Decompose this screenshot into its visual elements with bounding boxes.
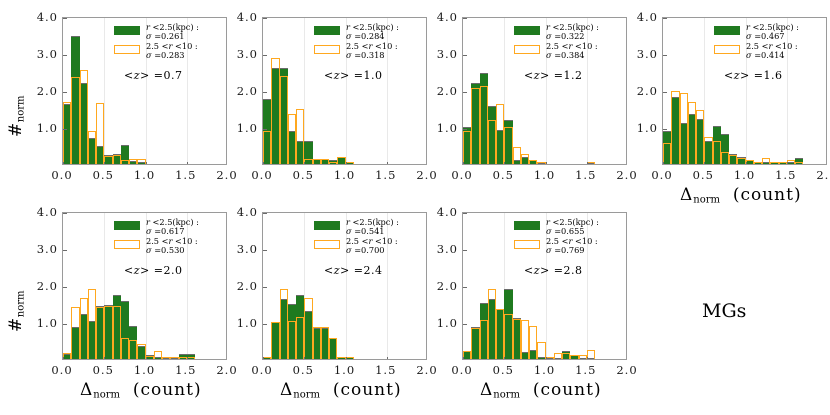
y-tick	[63, 324, 67, 325]
bar-orange-outline	[137, 159, 145, 164]
legend-swatch-orange-icon	[314, 45, 340, 54]
bar-orange-outline	[713, 141, 721, 164]
bar-orange-outline	[263, 357, 271, 359]
y-tick-label: 4.0	[26, 205, 58, 219]
bar-orange-outline	[671, 91, 679, 164]
x-tick-label: 1.5	[568, 363, 604, 377]
y-tick	[663, 55, 667, 56]
y-tick-label: 3.0	[26, 242, 58, 256]
bar-orange-outline	[463, 351, 471, 359]
bar-orange-outline	[513, 147, 521, 164]
y-tick	[263, 92, 267, 93]
bar-orange-outline	[80, 70, 88, 164]
y-tick-label: 2.0	[226, 279, 258, 293]
redshift-label-6: <z> =2.4	[324, 264, 382, 277]
x-tick-label: 1.0	[327, 168, 363, 182]
legend-swatch-orange-icon	[114, 45, 140, 54]
gridline-vertical	[104, 18, 105, 165]
bar-orange-outline	[271, 58, 279, 164]
redshift-label-4: <z> =1.6	[724, 69, 782, 82]
x-tick-label: 0.0	[244, 168, 280, 182]
bar-orange-outline	[71, 77, 79, 164]
corner-label-mgs: MGs	[702, 300, 746, 322]
x-tick-label: 2.0	[809, 168, 830, 182]
bar-orange-outline	[129, 340, 137, 359]
legend-swatch-green-icon	[114, 26, 140, 35]
x-tick	[104, 162, 105, 165]
x-tick-label: 0.0	[644, 168, 680, 182]
y-tick	[63, 287, 67, 288]
y-tick-label: 3.0	[26, 47, 58, 61]
x-tick-label: 1.0	[727, 168, 763, 182]
bar-orange-outline	[263, 131, 271, 164]
x-tick-label: 1.5	[168, 168, 204, 182]
bar-orange-outline	[795, 162, 803, 164]
y-tick-label: 3.0	[226, 242, 258, 256]
y-tick	[463, 324, 467, 325]
redshift-label-7: <z> =2.8	[524, 264, 582, 277]
x-tick	[504, 357, 505, 360]
x-tick	[346, 357, 347, 360]
x-axis-title-panel-7: Δnorm (count)	[480, 380, 602, 401]
x-tick	[463, 357, 464, 360]
y-tick	[663, 18, 667, 19]
y-tick	[263, 18, 267, 19]
x-tick	[304, 357, 305, 360]
bar-orange-outline	[121, 160, 129, 164]
x-tick	[146, 357, 147, 360]
legend-sigma-orange: σ =0.530	[146, 246, 185, 256]
y-tick	[63, 213, 67, 214]
bar-orange-outline	[113, 155, 121, 164]
y-tick	[263, 129, 267, 130]
x-tick-label: 1.5	[168, 363, 204, 377]
bar-orange-outline	[304, 159, 312, 164]
bar-orange-outline	[271, 322, 279, 359]
y-tick	[463, 250, 467, 251]
x-tick	[63, 162, 64, 165]
y-tick	[63, 18, 67, 19]
bar-orange-outline	[529, 326, 537, 359]
x-tick-label: 1.0	[527, 168, 563, 182]
bar-orange-outline	[296, 317, 304, 359]
bar-orange-outline	[304, 298, 312, 359]
y-tick	[63, 55, 67, 56]
y-tick	[263, 287, 267, 288]
bar-orange-outline	[154, 351, 162, 359]
bar-orange-outline	[537, 162, 545, 164]
plot-area-3	[462, 17, 627, 165]
legend-sigma-orange: σ =0.384	[546, 51, 585, 61]
bar-orange-outline	[96, 307, 104, 359]
y-tick-label: 4.0	[26, 10, 58, 24]
plot-area-7	[462, 212, 627, 360]
legend-sigma-orange: σ =0.283	[146, 51, 185, 61]
x-tick-label: 0.5	[485, 363, 521, 377]
bar-orange-outline	[187, 357, 195, 359]
y-tick-label: 2.0	[26, 84, 58, 98]
bar-orange-outline	[521, 154, 529, 164]
y-tick-label: 1.0	[26, 316, 58, 330]
x-tick	[263, 162, 264, 165]
legend-sigma-orange: σ =0.700	[346, 246, 385, 256]
bar-orange-outline	[463, 131, 471, 164]
bar-orange-outline	[754, 162, 762, 164]
y-tick	[263, 55, 267, 56]
bar-orange-outline	[787, 160, 795, 164]
bar-orange-outline	[88, 131, 96, 164]
legend-sigma-orange: σ =0.414	[746, 51, 785, 61]
bar-orange-outline	[346, 357, 354, 359]
bar-orange-outline	[329, 338, 337, 359]
y-tick-label: 2.0	[226, 84, 258, 98]
x-tick	[63, 357, 64, 360]
y-axis-title-row-2: #norm	[6, 291, 27, 332]
x-tick	[746, 162, 747, 165]
redshift-label-5: <z> =2.0	[124, 264, 182, 277]
bar-orange-outline	[721, 152, 729, 164]
bar-orange-outline	[587, 162, 595, 164]
plot-area-2	[262, 17, 427, 165]
x-axis-title-panel-4: Δnorm (count)	[680, 185, 802, 206]
x-tick-label: 0.5	[85, 363, 121, 377]
bar-orange-outline	[346, 162, 354, 164]
bar-orange-outline	[137, 344, 145, 359]
redshift-label-2: <z> =1.0	[324, 69, 382, 82]
bar-orange-outline	[313, 159, 321, 164]
y-tick	[463, 129, 467, 130]
x-tick-label: 0.5	[85, 168, 121, 182]
y-tick-label: 3.0	[226, 47, 258, 61]
bar-orange-outline	[63, 353, 71, 359]
x-tick-label: 1.0	[127, 168, 163, 182]
bar-orange-outline	[704, 137, 712, 164]
y-tick-label: 3.0	[626, 47, 658, 61]
y-tick-label: 2.0	[626, 84, 658, 98]
y-tick-label: 1.0	[226, 121, 258, 135]
x-tick-label: 1.5	[568, 168, 604, 182]
x-tick-label: 0.0	[444, 363, 480, 377]
legend-swatch-green-icon	[514, 26, 540, 35]
bar-orange-outline	[337, 157, 345, 164]
bar-orange-outline	[80, 298, 88, 359]
bar-orange-outline	[313, 327, 321, 359]
y-tick	[463, 213, 467, 214]
y-tick	[463, 92, 467, 93]
y-tick-label: 3.0	[426, 242, 458, 256]
y-tick	[63, 129, 67, 130]
legend-sigma-orange: σ =0.769	[546, 246, 585, 256]
x-tick-label: 1.5	[368, 363, 404, 377]
legend-sigma-orange: σ =0.318	[346, 51, 385, 61]
y-tick-label: 3.0	[426, 47, 458, 61]
plot-area-5	[62, 212, 227, 360]
bar-orange-outline	[554, 353, 562, 359]
bar-orange-outline	[104, 156, 112, 164]
bar-orange-outline	[521, 320, 529, 359]
x-tick-label: 2.0	[409, 363, 445, 377]
x-tick-label: 0.0	[44, 168, 80, 182]
bar-orange-outline	[96, 103, 104, 164]
x-tick	[663, 162, 664, 165]
x-tick-label: 1.0	[127, 363, 163, 377]
y-tick-label: 2.0	[426, 279, 458, 293]
x-tick	[504, 162, 505, 165]
y-tick-label: 2.0	[426, 84, 458, 98]
legend-swatch-green-icon	[314, 221, 340, 230]
legend-swatch-green-icon	[314, 26, 340, 35]
x-tick	[587, 162, 588, 165]
plot-area-4	[662, 17, 827, 165]
x-tick-label: 0.5	[285, 363, 321, 377]
legend-swatch-green-icon	[114, 221, 140, 230]
y-tick-label: 4.0	[226, 205, 258, 219]
x-axis-title-panel-6: Δnorm (count)	[280, 380, 402, 401]
bar-orange-outline	[129, 159, 137, 164]
y-tick	[463, 287, 467, 288]
y-tick	[463, 18, 467, 19]
x-tick	[304, 162, 305, 165]
bar-orange-outline	[288, 114, 296, 164]
bar-orange-outline	[770, 162, 778, 164]
x-tick-label: 2.0	[209, 363, 245, 377]
legend-swatch-orange-icon	[514, 45, 540, 54]
x-tick	[104, 357, 105, 360]
y-tick-label: 1.0	[426, 316, 458, 330]
bar-orange-outline	[746, 160, 754, 164]
x-tick	[387, 357, 388, 360]
legend-swatch-orange-icon	[314, 240, 340, 249]
y-tick-label: 1.0	[226, 316, 258, 330]
x-tick	[187, 162, 188, 165]
bar-orange-outline	[170, 357, 178, 359]
x-tick-label: 2.0	[609, 168, 645, 182]
bar-orange-outline	[496, 104, 504, 164]
x-tick	[546, 357, 547, 360]
y-axis-title-row-1: #norm	[6, 96, 27, 137]
x-tick	[346, 162, 347, 165]
x-tick-label: 0.5	[485, 168, 521, 182]
y-tick-label: 4.0	[626, 10, 658, 24]
bar-orange-outline	[570, 355, 578, 359]
bar-orange-outline	[663, 143, 671, 164]
x-tick-label: 2.0	[409, 168, 445, 182]
bar-orange-outline	[688, 102, 696, 164]
redshift-label-1: <z> =0.7	[124, 69, 182, 82]
bar-orange-outline	[471, 328, 479, 359]
bar-orange-outline	[537, 342, 545, 359]
x-tick	[263, 357, 264, 360]
bar-orange-outline	[280, 289, 288, 359]
legend-swatch-orange-icon	[514, 240, 540, 249]
bar-orange-outline	[104, 306, 112, 359]
x-axis-title-panel-5: Δnorm (count)	[80, 380, 202, 401]
y-tick	[63, 92, 67, 93]
x-tick	[387, 162, 388, 165]
y-tick	[63, 250, 67, 251]
y-tick-label: 4.0	[426, 10, 458, 24]
bar-orange-outline	[546, 357, 554, 359]
bar-orange-outline	[321, 327, 329, 359]
x-tick-label: 2.0	[209, 168, 245, 182]
bar-orange-outline	[513, 319, 521, 359]
x-tick	[546, 162, 547, 165]
y-tick	[263, 213, 267, 214]
bar-orange-outline	[280, 76, 288, 164]
y-tick	[663, 92, 667, 93]
legend-swatch-green-icon	[514, 221, 540, 230]
x-tick-label: 0.5	[685, 168, 721, 182]
bar-orange-outline	[321, 159, 329, 164]
bar-orange-outline	[496, 309, 504, 359]
bar-orange-outline	[71, 307, 79, 359]
x-tick-label: 1.0	[327, 363, 363, 377]
y-tick-label: 1.0	[626, 121, 658, 135]
bar-orange-outline	[680, 93, 688, 164]
y-tick-label: 2.0	[26, 279, 58, 293]
redshift-label-3: <z> =1.2	[524, 69, 582, 82]
bar-orange-outline	[488, 289, 496, 359]
plot-area-6	[262, 212, 427, 360]
bar-orange-outline	[480, 320, 488, 359]
bar-orange-outline	[488, 120, 496, 164]
x-tick	[146, 162, 147, 165]
bar-orange-outline	[779, 162, 787, 164]
bar-orange-outline	[121, 338, 129, 359]
bar-orange-outline	[504, 314, 512, 359]
bar-orange-outline	[729, 155, 737, 164]
bar-orange-outline	[504, 127, 512, 164]
plot-area-1	[62, 17, 227, 165]
bar-orange-outline	[562, 353, 570, 359]
x-tick-label: 1.5	[768, 168, 804, 182]
x-tick-label: 2.0	[609, 363, 645, 377]
bar-orange-outline	[162, 357, 170, 359]
y-tick-label: 1.0	[426, 121, 458, 135]
bar-orange-outline	[288, 321, 296, 359]
bar-orange-outline	[179, 357, 187, 359]
y-tick	[263, 250, 267, 251]
x-tick-label: 0.5	[285, 168, 321, 182]
x-tick	[187, 357, 188, 360]
x-tick-label: 1.5	[368, 168, 404, 182]
bar-orange-outline	[579, 355, 587, 359]
x-tick-label: 0.0	[44, 363, 80, 377]
x-tick	[787, 162, 788, 165]
legend-swatch-orange-icon	[714, 45, 740, 54]
x-tick-label: 1.0	[527, 363, 563, 377]
y-tick	[663, 129, 667, 130]
bar-orange-outline	[471, 88, 479, 164]
bar-orange-outline	[63, 102, 71, 164]
y-tick-label: 1.0	[26, 121, 58, 135]
bar-orange-outline	[587, 350, 595, 359]
bar-orange-outline	[88, 289, 96, 359]
figure-root: 1.02.03.04.00.00.51.01.52.0r <2.5(kpc) :…	[0, 0, 830, 415]
y-tick	[463, 55, 467, 56]
legend-swatch-orange-icon	[114, 240, 140, 249]
bar-orange-outline	[337, 357, 345, 359]
bar-orange-outline	[529, 160, 537, 164]
x-tick-label: 0.0	[244, 363, 280, 377]
x-tick	[587, 357, 588, 360]
bar-orange-outline	[480, 86, 488, 164]
y-tick	[263, 324, 267, 325]
bar-orange-outline	[762, 158, 770, 164]
bar-orange-outline	[296, 109, 304, 165]
x-tick	[704, 162, 705, 165]
bar-orange-outline	[737, 158, 745, 164]
y-tick-label: 4.0	[226, 10, 258, 24]
y-tick-label: 4.0	[426, 205, 458, 219]
legend-swatch-green-icon	[714, 26, 740, 35]
bar-orange-outline	[329, 162, 337, 164]
x-tick-label: 0.0	[444, 168, 480, 182]
x-tick	[463, 162, 464, 165]
bar-orange-outline	[146, 356, 154, 359]
bar-orange-outline	[696, 110, 704, 164]
bar-orange-outline	[113, 306, 121, 359]
